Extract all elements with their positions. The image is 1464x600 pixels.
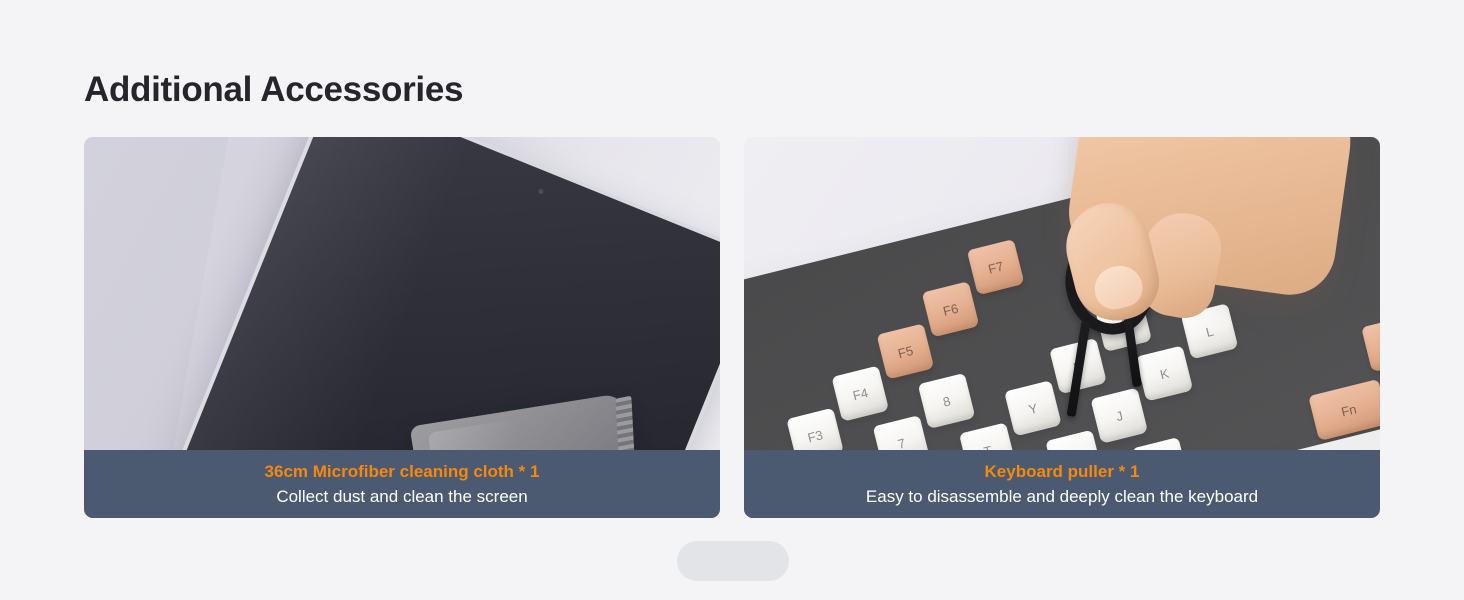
keycap-8: 8 xyxy=(918,373,976,429)
accessory-card-keyboard-puller[interactable]: F1 F2 F3 F4 F5 F6 F7 4 5 6 7 8 xyxy=(744,137,1380,518)
carousel-drag-handle[interactable] xyxy=(677,541,789,581)
thumbnail xyxy=(1090,261,1147,313)
puller-leg-left xyxy=(1067,321,1091,417)
accessories-section: Additional Accessories xyxy=(0,0,1464,600)
caption-title: 36cm Microfiber cleaning cloth * 1 xyxy=(265,459,540,484)
keycap-f5: F5 xyxy=(877,323,935,379)
caption-subtitle: Easy to disassemble and deeply clean the… xyxy=(866,484,1258,509)
keycap-f4: F4 xyxy=(831,366,889,422)
caption-subtitle: Collect dust and clean the screen xyxy=(276,484,527,509)
card-caption: Keyboard puller * 1 Easy to disassemble … xyxy=(744,450,1380,518)
caption-title: Keyboard puller * 1 xyxy=(985,459,1140,484)
accessory-card-cleaning-cloth[interactable]: 36cm Microfiber cleaning cloth * 1 Colle… xyxy=(84,137,720,518)
keycap-f7: F7 xyxy=(967,239,1025,295)
hand-holding-puller xyxy=(1044,137,1374,333)
page-title: Additional Accessories xyxy=(84,66,463,114)
keycap-f6: F6 xyxy=(922,281,980,337)
accessory-card-list: 36cm Microfiber cleaning cloth * 1 Colle… xyxy=(84,137,1380,518)
card-caption: 36cm Microfiber cleaning cloth * 1 Colle… xyxy=(84,450,720,518)
